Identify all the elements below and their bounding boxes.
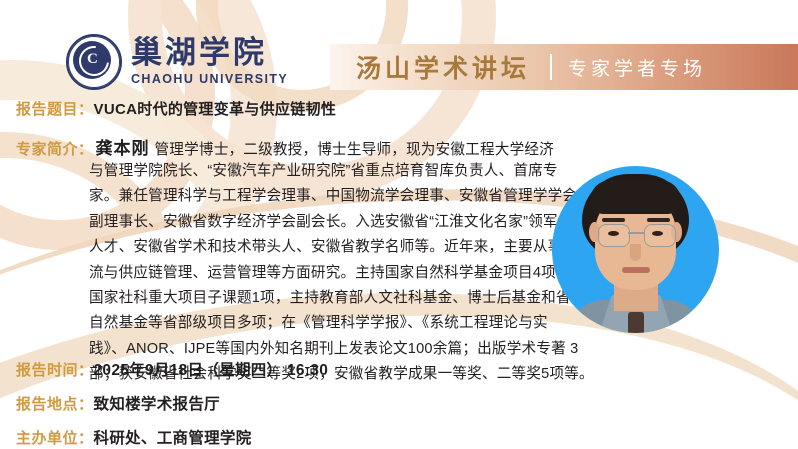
report-title-row: 报告题目： VUCA时代的管理变革与供应链韧性 [16,98,336,119]
report-place-label: 报告地点： [16,393,94,414]
portrait-tie [628,312,644,333]
speaker-bio: 专家简介： 龚本刚 管理学博士，二级教授，博士生导师，现为安徽工程大学经济 与管… [16,134,561,388]
report-time-label: 报告时间： [16,359,94,380]
portrait-eye-right [652,231,663,236]
bio-line: 自然基金等省部级项目多项；在《管理科学学报》、《系统工程理论与实 [89,311,561,336]
bio-first-line: 专家简介： 龚本刚 管理学博士，二级教授，博士生导师，现为安徽工程大学经济 [16,134,561,159]
speaker-portrait [552,166,719,333]
portrait-brow-right [647,218,670,222]
report-time-value: 2025年9月18日（星期四） 16:30 [94,358,329,380]
report-place-row: 报告地点： 致知楼学术报告厅 [16,392,220,414]
poster-header: C 巢湖学院 CHAOHU UNIVERSITY 汤山学术讲坛 专家学者专场 [0,0,798,96]
poster-canvas: C 巢湖学院 CHAOHU UNIVERSITY 汤山学术讲坛 专家学者专场 报… [0,0,798,449]
bio-label: 专家简介： [16,138,94,159]
portrait-fringe [590,180,681,214]
logo-text-block: 巢湖学院 CHAOHU UNIVERSITY [131,38,288,86]
report-title-label: 报告题目： [16,98,94,119]
bio-line: 人才、安徽省学术和技术带头人、安徽省教学名师等。近年来，主要从事物 [89,235,561,260]
university-crest-icon: C [66,34,122,90]
report-place-value: 致知楼学术报告厅 [94,392,220,414]
report-organizer-row: 主办单位： 科研处、工商管理学院 [16,426,252,448]
speaker-name: 龚本刚 [96,134,150,159]
banner-title: 汤山学术讲坛 [356,49,530,85]
logo-name-cn: 巢湖学院 [131,38,288,69]
report-title-value: VUCA时代的管理变革与供应链韧性 [94,98,337,119]
bio-line: 家。兼任管理科学与工程学会理事、中国物流学会理事、安徽省管理学学会 [89,184,561,209]
report-organizer-value: 科研处、工商管理学院 [94,426,252,448]
crest-letter: C [87,52,98,67]
logo-name-en: CHAOHU UNIVERSITY [131,73,288,86]
bio-line: 流与供应链管理、运营管理等方面研究。主持国家自然科学基金项目4项、 [89,261,561,286]
banner-subtitle: 专家学者专场 [568,54,706,81]
forum-banner: 汤山学术讲坛 专家学者专场 [330,44,798,90]
report-time-row: 报告时间： 2025年9月18日（星期四） 16:30 [16,358,328,380]
portrait-mouth [622,267,650,273]
bio-line: 国家社科重大项目子课题1项，主持教育部人文社科基金、博士后基金和省 [89,286,561,311]
portrait-eye-left [608,231,619,236]
university-logo: C 巢湖学院 CHAOHU UNIVERSITY [66,34,288,90]
bio-line: 与管理学院院长、“安徽汽车产业研究院”省重点培育智库负责人、首席专 [89,159,561,184]
report-organizer-label: 主办单位： [16,427,94,448]
banner-divider [550,54,552,80]
bio-line: 副理事长、安徽省数字经济学会副会长。入选安徽省“江淮文化名家”领军 [89,210,561,235]
portrait-brow-left [602,218,625,222]
portrait-nose [630,244,641,261]
bio-first-line-text: 管理学博士，二级教授，博士生导师，现为安徽工程大学经济 [155,138,554,159]
portrait-glasses-bridge [628,232,644,234]
